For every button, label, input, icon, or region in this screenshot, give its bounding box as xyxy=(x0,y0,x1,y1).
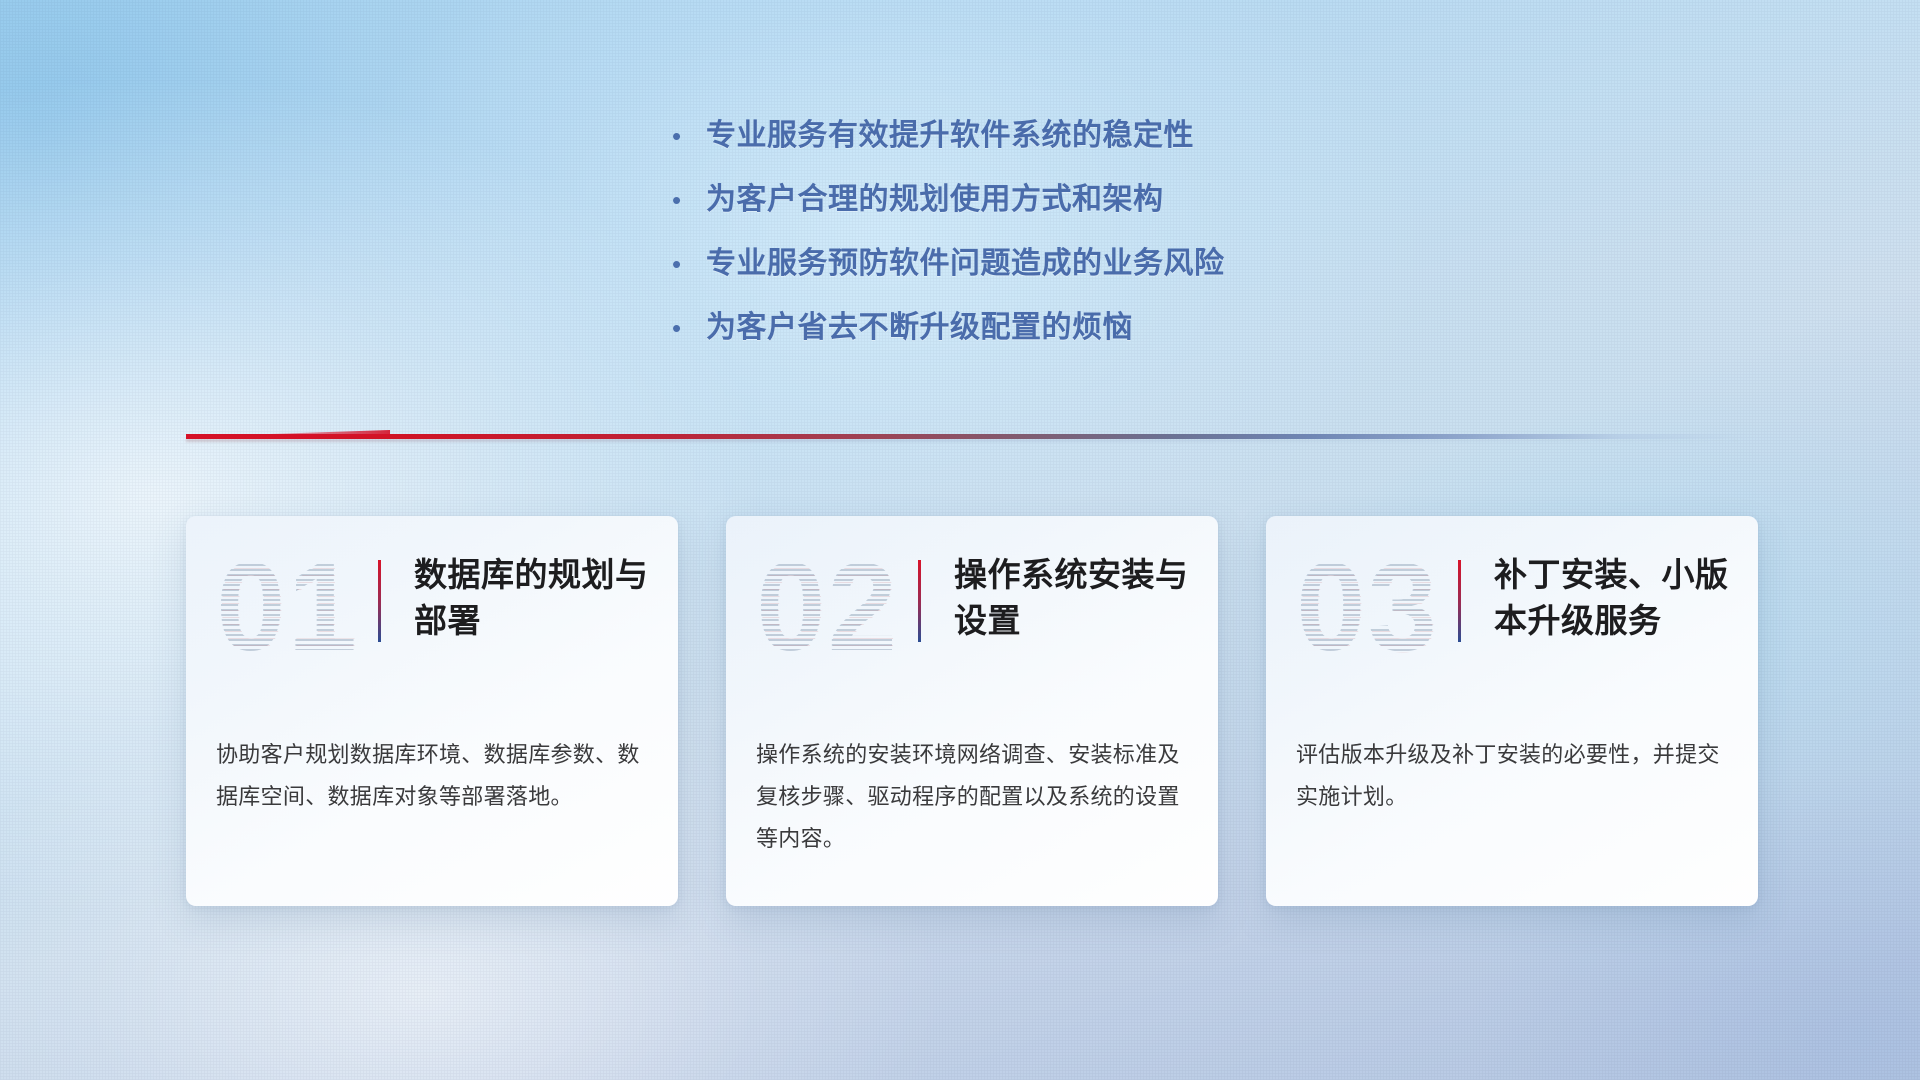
card-inner: 02 02 操作系统安装与设置 操作系统的安装环境网络调查、安装标准及复核步骤、… xyxy=(726,516,1218,906)
bullet-dot-icon: • xyxy=(672,123,706,149)
card-title: 操作系统安装与设置 xyxy=(954,552,1194,644)
card-description: 评估版本升级及补丁安装的必要性，并提交实施计划。 xyxy=(1296,734,1732,818)
bullet-dot-icon: • xyxy=(672,251,706,277)
list-item: • 为客户合理的规划使用方式和架构 xyxy=(672,174,1452,238)
list-item: • 专业服务预防软件问题造成的业务风险 xyxy=(672,238,1452,302)
benefits-bullet-list: • 专业服务有效提升软件系统的稳定性 • 为客户合理的规划使用方式和架构 • 专… xyxy=(672,110,1452,366)
section-divider xyxy=(186,428,1746,444)
bullet-dot-icon: • xyxy=(672,187,706,213)
service-card-group: 01 01 数据库的规划与部署 协助客户规划数据库环境、数据库参数、数据库空间、… xyxy=(186,516,1758,906)
list-item: • 为客户省去不断升级配置的烦恼 xyxy=(672,302,1452,366)
card-description: 协助客户规划数据库环境、数据库参数、数据库空间、数据库对象等部署落地。 xyxy=(216,734,652,818)
card-accent-rule xyxy=(918,560,921,642)
card-number-watermark-overlay: 03 xyxy=(1297,541,1507,677)
divider-gradient-bar xyxy=(186,434,1746,439)
service-card-03[interactable]: 03 03 补丁安装、小版本升级服务 评估版本升级及补丁安装的必要性，并提交实施… xyxy=(1266,516,1758,906)
bullet-text: 专业服务预防软件问题造成的业务风险 xyxy=(706,238,1225,282)
card-inner: 03 03 补丁安装、小版本升级服务 评估版本升级及补丁安装的必要性，并提交实施… xyxy=(1266,516,1758,906)
card-number-watermark-overlay: 02 xyxy=(757,541,967,677)
service-card-02[interactable]: 02 02 操作系统安装与设置 操作系统的安装环境网络调查、安装标准及复核步骤、… xyxy=(726,516,1218,906)
list-item: • 专业服务有效提升软件系统的稳定性 xyxy=(672,110,1452,174)
service-card-01[interactable]: 01 01 数据库的规划与部署 协助客户规划数据库环境、数据库参数、数据库空间、… xyxy=(186,516,678,906)
card-title: 补丁安装、小版本升级服务 xyxy=(1494,552,1734,644)
card-accent-rule xyxy=(378,560,381,642)
bullet-text: 为客户合理的规划使用方式和架构 xyxy=(706,174,1164,218)
card-accent-rule xyxy=(1458,560,1461,642)
card-title: 数据库的规划与部署 xyxy=(414,552,654,644)
bullet-dot-icon: • xyxy=(672,315,706,341)
card-description: 操作系统的安装环境网络调查、安装标准及复核步骤、驱动程序的配置以及系统的设置等内… xyxy=(756,734,1192,860)
divider-shadow xyxy=(186,439,1746,442)
card-number-watermark-overlay: 01 xyxy=(217,541,427,677)
bullet-text: 专业服务有效提升软件系统的稳定性 xyxy=(706,110,1194,154)
card-inner: 01 01 数据库的规划与部署 协助客户规划数据库环境、数据库参数、数据库空间、… xyxy=(186,516,678,906)
bullet-text: 为客户省去不断升级配置的烦恼 xyxy=(706,302,1133,346)
